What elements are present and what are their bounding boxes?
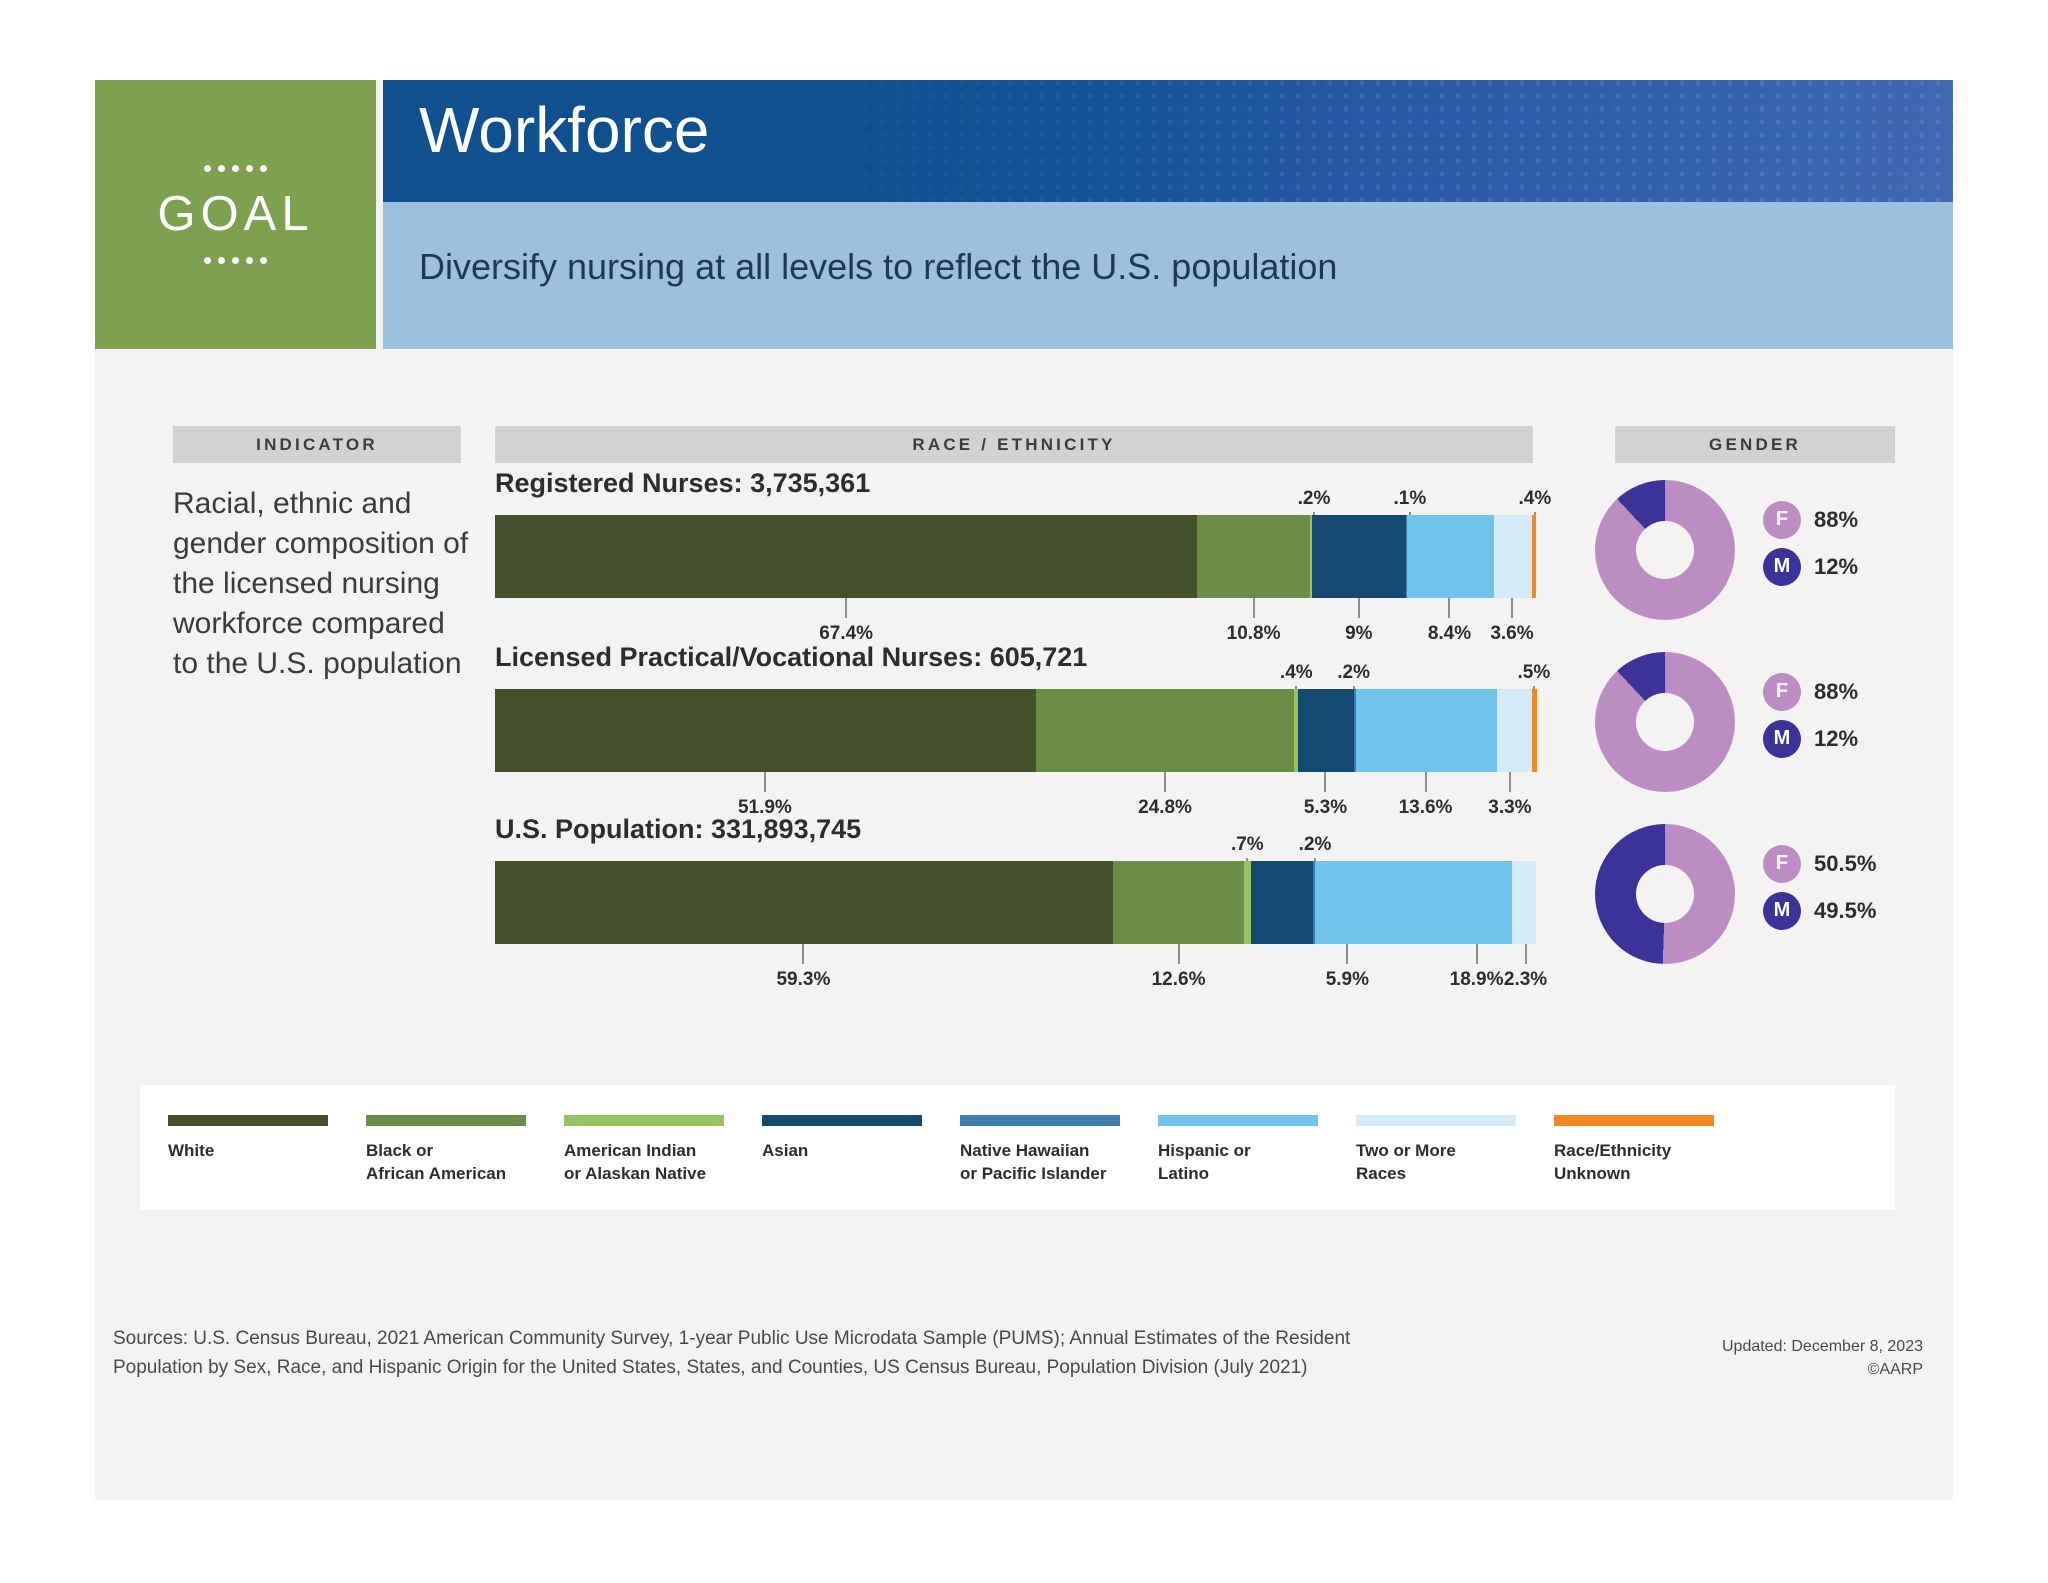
bar-value-label: 59.3%: [776, 969, 830, 991]
legend-label: Black or African American: [366, 1140, 556, 1186]
dots-decoration-bottom: [204, 257, 267, 264]
column-header-gender-label: GENDER: [1709, 435, 1801, 455]
column-header-race-label: RACE / ETHNICITY: [912, 435, 1115, 455]
bar-value-label: 18.9%: [1450, 969, 1504, 991]
bar-segment: [1312, 515, 1406, 598]
bar-top-labels: .2%.1%.4%: [495, 488, 1537, 489]
legend-swatch: [960, 1115, 1120, 1126]
bar-value-label: 2.3%: [1504, 969, 1547, 991]
legend-label: American Indian or Alaskan Native: [564, 1140, 754, 1186]
bar-value-label: .7%: [1231, 834, 1264, 856]
bar-segment: [1532, 689, 1537, 772]
bar-bottom-labels: 59.3%12.6%5.9%18.9%2.3%: [495, 944, 1537, 945]
indicator-description: Racial, ethnic and gender composition of…: [173, 484, 473, 683]
gender-legend-male: M 12%: [1763, 715, 1858, 762]
gender-group-lpn: F 88% M 12%: [1595, 652, 1925, 792]
gender-donut-chart: [1595, 824, 1735, 964]
legend-swatch: [1158, 1115, 1318, 1126]
bar-segment: [1036, 689, 1294, 772]
bar-segment: [1197, 515, 1310, 598]
gender-donut-chart: [1595, 652, 1735, 792]
bar-segment: [1244, 861, 1251, 944]
column-header-indicator: INDICATOR: [173, 426, 461, 463]
leader-line: [1358, 598, 1360, 618]
gender-legend: F 88% M 12%: [1763, 668, 1858, 762]
gender-group-us-population: F 50.5% M 49.5%: [1595, 824, 1925, 964]
legend-swatch: [1356, 1115, 1516, 1126]
male-percent: 49.5%: [1814, 898, 1876, 924]
legend-label: Race/Ethnicity Unknown: [1554, 1140, 1744, 1186]
bar-value-label: 5.3%: [1304, 797, 1347, 819]
bar-value-label: 8.4%: [1428, 623, 1471, 645]
male-percent: 12%: [1814, 726, 1858, 752]
leader-line: [1509, 772, 1511, 792]
bar-title: Licensed Practical/Vocational Nurses: 60…: [495, 642, 1087, 673]
leader-line: [1178, 944, 1180, 964]
bar-value-label: 13.6%: [1399, 797, 1453, 819]
female-badge-icon: F: [1763, 501, 1801, 539]
bar-bottom-labels: 67.4%10.8%9%8.4%3.6%: [495, 598, 1537, 599]
bar-segment: [1494, 515, 1532, 598]
legend-item: Native Hawaiian or Pacific Islander: [960, 1115, 1150, 1186]
page-title: Workforce: [419, 98, 709, 162]
bar-value-label: .4%: [1519, 488, 1552, 510]
stacked-bar: [495, 689, 1537, 772]
bar-value-label: .2%: [1298, 488, 1331, 510]
male-badge-icon: M: [1763, 892, 1801, 930]
legend-label: Hispanic or Latino: [1158, 1140, 1348, 1186]
page-header: GOAL Workforce Diversify nursing at all …: [95, 80, 1953, 349]
legend-item: White: [168, 1115, 358, 1163]
chart-legend: WhiteBlack or African AmericanAmerican I…: [140, 1085, 1895, 1210]
leader-line: [1511, 598, 1513, 618]
page-subtitle: Diversify nursing at all levels to refle…: [419, 246, 1337, 288]
bar-segment: [1298, 689, 1353, 772]
bar-segment: [1356, 689, 1498, 772]
female-percent: 50.5%: [1814, 851, 1876, 877]
goal-badge: GOAL: [95, 80, 376, 349]
bar-segment: [1532, 515, 1536, 598]
bar-value-label: 3.3%: [1488, 797, 1531, 819]
bar-value-label: .2%: [1299, 834, 1332, 856]
legend-swatch: [366, 1115, 526, 1126]
leader-line: [1425, 772, 1427, 792]
bar-segment: [1251, 861, 1312, 944]
stacked-bar: [495, 515, 1537, 598]
legend-label: Asian: [762, 1140, 952, 1163]
bar-value-label: 5.9%: [1326, 969, 1369, 991]
updated-date: Updated: December 8, 2023: [1722, 1335, 1923, 1358]
infographic-page: GOAL Workforce Diversify nursing at all …: [95, 80, 1953, 1500]
leader-line: [1476, 944, 1478, 964]
subtitle-band: Diversify nursing at all levels to refle…: [383, 202, 1953, 349]
bar-segment: [1512, 861, 1536, 944]
female-badge-icon: F: [1763, 845, 1801, 883]
gender-group-registered-nurses: F 88% M 12%: [1595, 480, 1925, 620]
gender-legend-female: F 50.5%: [1763, 840, 1876, 887]
stacked-bar: [495, 861, 1537, 944]
bar-segment: [1407, 515, 1495, 598]
bar-value-label: 3.6%: [1490, 623, 1533, 645]
copyright: ©AARP: [1722, 1358, 1923, 1381]
leader-line: [1525, 944, 1527, 964]
goal-label: GOAL: [157, 190, 313, 239]
legend-label: Two or More Races: [1356, 1140, 1546, 1186]
legend-item: Hispanic or Latino: [1158, 1115, 1348, 1186]
leader-line: [1324, 772, 1326, 792]
legend-item: Two or More Races: [1356, 1115, 1546, 1186]
legend-swatch: [168, 1115, 328, 1126]
female-percent: 88%: [1814, 507, 1858, 533]
column-header-race-ethnicity: RACE / ETHNICITY: [495, 426, 1533, 463]
legend-label: Native Hawaiian or Pacific Islander: [960, 1140, 1150, 1186]
gender-donut-chart: [1595, 480, 1735, 620]
dots-decoration-top: [204, 165, 267, 172]
bar-segment: [1315, 861, 1512, 944]
legend-item: Asian: [762, 1115, 952, 1163]
bar-segment: [1497, 689, 1531, 772]
bar-top-labels: .7%.2%: [495, 834, 1537, 835]
bar-value-label: .2%: [1337, 662, 1370, 684]
bar-value-label: .4%: [1280, 662, 1313, 684]
bar-value-label: .1%: [1394, 488, 1427, 510]
updated-block: Updated: December 8, 2023 ©AARP: [1722, 1335, 1923, 1381]
gender-legend-female: F 88%: [1763, 668, 1858, 715]
legend-swatch: [762, 1115, 922, 1126]
legend-swatch: [1554, 1115, 1714, 1126]
bar-segment: [495, 689, 1036, 772]
bar-top-labels: .4%.2%.5%: [495, 662, 1537, 663]
bar-value-label: 10.8%: [1227, 623, 1281, 645]
gender-legend: F 88% M 12%: [1763, 496, 1858, 590]
legend-item: Race/Ethnicity Unknown: [1554, 1115, 1744, 1186]
column-header-gender: GENDER: [1615, 426, 1895, 463]
sources-text: Sources: U.S. Census Bureau, 2021 Americ…: [113, 1325, 1363, 1382]
bar-segment: [495, 861, 1113, 944]
leader-line: [764, 772, 766, 792]
bar-value-label: .5%: [1517, 662, 1550, 684]
male-badge-icon: M: [1763, 720, 1801, 758]
female-percent: 88%: [1814, 679, 1858, 705]
gender-legend-male: M 49.5%: [1763, 887, 1876, 934]
leader-line: [1164, 772, 1166, 792]
legend-item: American Indian or Alaskan Native: [564, 1115, 754, 1186]
gender-legend-male: M 12%: [1763, 543, 1858, 590]
leader-line: [845, 598, 847, 618]
gender-legend: F 50.5% M 49.5%: [1763, 840, 1876, 934]
bar-title: U.S. Population: 331,893,745: [495, 814, 861, 845]
male-badge-icon: M: [1763, 548, 1801, 586]
leader-line: [802, 944, 804, 964]
gender-legend-female: F 88%: [1763, 496, 1858, 543]
male-percent: 12%: [1814, 554, 1858, 580]
bar-value-label: 24.8%: [1138, 797, 1192, 819]
bar-value-label: 12.6%: [1152, 969, 1206, 991]
bar-segment: [495, 515, 1197, 598]
bar-value-label: 9%: [1345, 623, 1372, 645]
legend-swatch: [564, 1115, 724, 1126]
female-badge-icon: F: [1763, 673, 1801, 711]
legend-label: White: [168, 1140, 358, 1163]
leader-line: [1448, 598, 1450, 618]
bar-segment: [1113, 861, 1244, 944]
leader-line: [1346, 944, 1348, 964]
legend-item: Black or African American: [366, 1115, 556, 1186]
leader-line: [1253, 598, 1255, 618]
title-band: Workforce: [383, 80, 1953, 202]
column-header-indicator-label: INDICATOR: [256, 435, 378, 455]
bar-title: Registered Nurses: 3,735,361: [495, 468, 870, 499]
bar-bottom-labels: 51.9%24.8%5.3%13.6%3.3%: [495, 772, 1537, 773]
